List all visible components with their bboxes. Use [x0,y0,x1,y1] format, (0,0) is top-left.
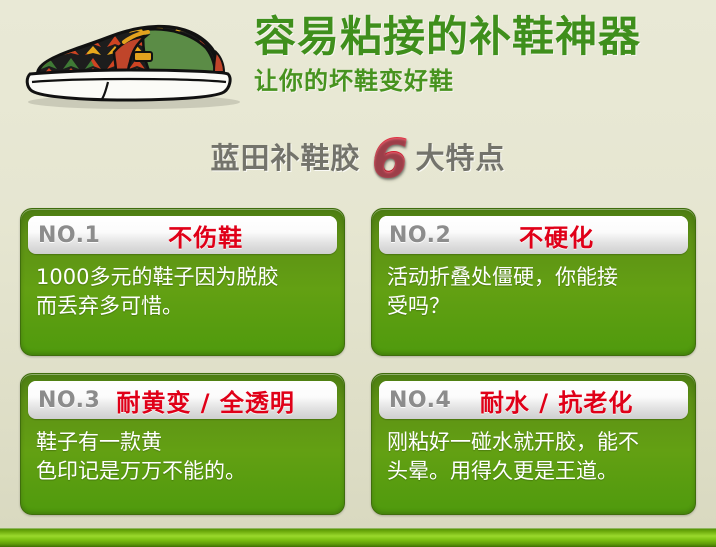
feature-card-3[interactable]: NO.3 耐黄变 / 全透明 鞋子有一款黄 色印记是万万不能的。 [20,373,345,515]
card-feature-4: 耐水 / 抗老化 [451,383,678,418]
feature-card-4[interactable]: NO.4 耐水 / 抗老化 刚粘好一碰水就开胶，能不 头晕。用得久更是王道。 [371,373,696,515]
card-number-2: NO.2 [389,223,451,248]
sneaker-icon [16,12,246,112]
card-header-4: NO.4 耐水 / 抗老化 [379,381,688,419]
card-feature-2: 不硬化 [451,218,678,253]
card-number-1: NO.1 [38,223,100,248]
feature-card-grid: NO.1 不伤鞋 1000多元的鞋子因为脱胶 而丢弃多可惜。 NO.2 不硬化 … [20,208,696,515]
headline-prefix: 蓝田补鞋胶 [211,141,361,175]
section-headline: 蓝田补鞋胶6大特点 [0,133,716,179]
feature-card-1[interactable]: NO.1 不伤鞋 1000多元的鞋子因为脱胶 而丢弃多可惜。 [20,208,345,356]
main-title: 容易粘接的补鞋神器 [254,14,706,60]
card-header-1: NO.1 不伤鞋 [28,216,337,254]
card-feature-3: 耐黄变 / 全透明 [100,383,327,418]
headline-number: 6 [372,136,409,182]
card-body-1: 1000多元的鞋子因为脱胶 而丢弃多可惜。 [28,254,337,321]
feature-card-2[interactable]: NO.2 不硬化 活动折叠处僵硬，你能接 受吗？ [371,208,696,356]
card-number-3: NO.3 [38,388,100,413]
card-header-2: NO.2 不硬化 [379,216,688,254]
sub-title: 让你的坏鞋变好鞋 [254,67,706,95]
bottom-accent-bar [0,528,716,547]
poster-root: 容易粘接的补鞋神器 让你的坏鞋变好鞋 蓝田补鞋胶6大特点 NO.1 不伤鞋 10… [0,0,716,547]
card-feature-1: 不伤鞋 [100,218,327,253]
card-number-4: NO.4 [389,388,451,413]
card-row-2: NO.3 耐黄变 / 全透明 鞋子有一款黄 色印记是万万不能的。 NO.4 耐水… [20,373,696,515]
title-block: 容易粘接的补鞋神器 让你的坏鞋变好鞋 [254,14,706,95]
card-body-4: 刚粘好一碰水就开胶，能不 头晕。用得久更是王道。 [379,419,688,486]
header-banner: 容易粘接的补鞋神器 让你的坏鞋变好鞋 [0,0,716,118]
card-body-2: 活动折叠处僵硬，你能接 受吗？ [379,254,688,321]
headline-suffix: 大特点 [415,141,505,175]
card-body-3: 鞋子有一款黄 色印记是万万不能的。 [28,419,337,486]
card-header-3: NO.3 耐黄变 / 全透明 [28,381,337,419]
card-row-1: NO.1 不伤鞋 1000多元的鞋子因为脱胶 而丢弃多可惜。 NO.2 不硬化 … [20,208,696,356]
